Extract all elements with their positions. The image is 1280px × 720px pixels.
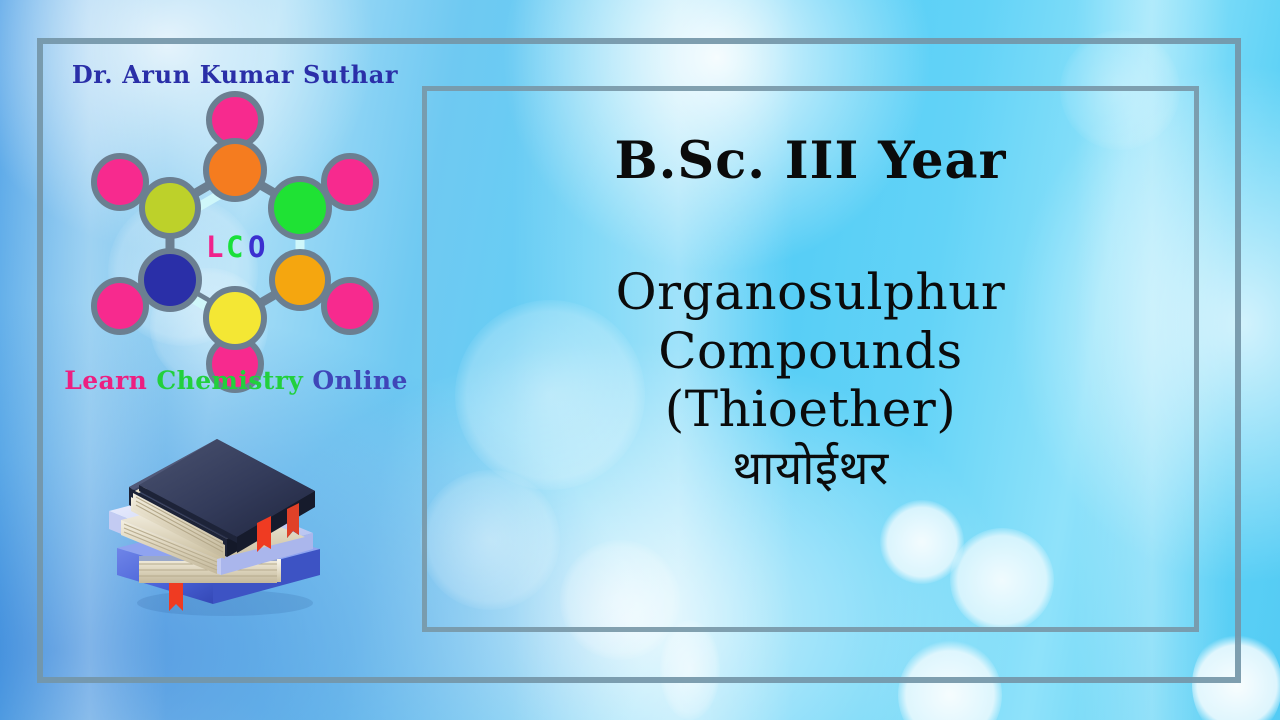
book-stack-icon bbox=[105, 425, 335, 620]
brand-tagline: Learn Chemistry Online bbox=[46, 366, 426, 395]
molecule-logo-icon bbox=[110, 108, 360, 370]
author-name: Dr. Arun Kumar Suthar bbox=[60, 60, 410, 89]
tagline-word-chemistry: Chemistry bbox=[156, 366, 303, 395]
tagline-word-online: Online bbox=[312, 366, 407, 395]
tagline-word-learn: Learn bbox=[64, 366, 147, 395]
slide-canvas: B.Sc. III Year Organosulphur Compounds (… bbox=[0, 0, 1280, 720]
title-border-frame bbox=[422, 86, 1199, 632]
